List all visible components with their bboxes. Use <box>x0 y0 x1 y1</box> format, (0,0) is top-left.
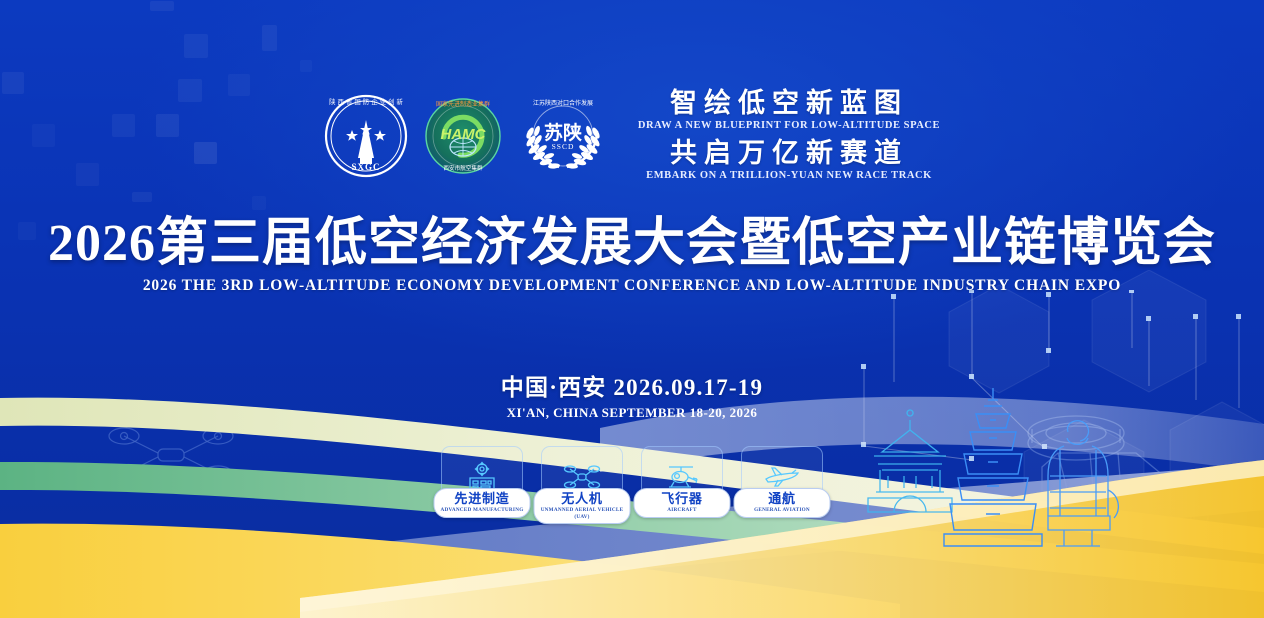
venue-date-en: XI'AN, CHINA SEPTEMBER 18-20, 2026 <box>0 405 1264 421</box>
badge-label-en: AIRCRAFT <box>637 507 728 514</box>
sxgc-logo: SXGC 陕 西 省 国 防 企 业 创 新 <box>324 94 408 178</box>
badge-label: 先进制造 ADVANCED MANUFACTURING <box>434 488 531 518</box>
badge-label-cn: 通航 <box>737 492 828 506</box>
airplane-icon <box>762 464 802 490</box>
badge-label-en: UNMANNED AERIAL VEHICLE (UAV) <box>537 507 628 520</box>
slogan-line1-cn: 智绘低空新蓝图 <box>638 88 940 118</box>
badge-label-en: ADVANCED MANUFACTURING <box>437 507 528 514</box>
venue-date-cn: 中国·西安 2026.09.17-19 <box>0 368 1264 402</box>
slogan-line1-en: DRAW A NEW BLUEPRINT FOR LOW-ALTITUDE SP… <box>638 118 940 134</box>
svg-text:HAMC: HAMC <box>440 126 486 143</box>
category-badges: 先进制造 ADVANCED MANUFACTURING <box>0 446 1264 508</box>
badge-label: 无人机 UNMANNED AERIAL VEHICLE (UAV) <box>534 488 631 524</box>
badge-label-cn: 飞行器 <box>637 492 728 506</box>
svg-text:SSCD: SSCD <box>552 142 575 151</box>
badge-label: 飞行器 AIRCRAFT <box>634 488 731 518</box>
svg-text:SXGC: SXGC <box>351 162 380 172</box>
svg-text:西安市航空集群: 西安市航空集群 <box>443 164 483 172</box>
svg-text:陕 西 省 国 防 企 业 创 新: 陕 西 省 国 防 企 业 创 新 <box>329 97 403 106</box>
badge-uav[interactable]: 无人机 UNMANNED AERIAL VEHICLE (UAV) <box>541 446 623 508</box>
svg-text:国家先进制造业集群: 国家先进制造业集群 <box>436 100 490 108</box>
conference-title-cn: 2026第三届低空经济发展大会暨低空产业链博览会 <box>0 216 1264 271</box>
badge-label-en: GENERAL AVIATION <box>737 507 828 514</box>
venue-date-block: 中国·西安 2026.09.17-19 XI'AN, CHINA SEPTEMB… <box>0 368 1264 421</box>
conference-title-en: 2026 THE 3RD LOW-ALTITUDE ECONOMY DEVELO… <box>0 277 1264 295</box>
sscd-logo: 苏陕 SSCD 江苏陕西对口合作发展 <box>518 91 608 181</box>
svg-text:江苏陕西对口合作发展: 江苏陕西对口合作发展 <box>533 99 593 107</box>
slogan-line2-en: EMBARK ON A TRILLION-YUAN NEW RACE TRACK <box>638 168 940 184</box>
svg-text:苏陕: 苏陕 <box>544 121 582 144</box>
title-block: 2026第三届低空经济发展大会暨低空产业链博览会 2026 THE 3RD LO… <box>0 216 1264 295</box>
badge-label-cn: 先进制造 <box>437 492 528 506</box>
badge-advanced-manufacturing[interactable]: 先进制造 ADVANCED MANUFACTURING <box>441 446 523 508</box>
conference-poster: SXGC 陕 西 省 国 防 企 业 创 新 <box>0 0 1264 618</box>
badge-aircraft[interactable]: 飞行器 AIRCRAFT <box>641 446 723 508</box>
badge-label-cn: 无人机 <box>537 492 628 506</box>
poster-header: SXGC 陕 西 省 国 防 企 业 创 新 <box>0 88 1264 184</box>
slogan-line2-cn: 共启万亿新赛道 <box>638 138 940 168</box>
slogan-block: 智绘低空新蓝图 DRAW A NEW BLUEPRINT FOR LOW-ALT… <box>638 88 940 184</box>
organizer-logos: SXGC 陕 西 省 国 防 企 业 创 新 <box>324 91 608 181</box>
badge-general-aviation[interactable]: 通航 GENERAL AVIATION <box>741 446 823 508</box>
badge-label: 通航 GENERAL AVIATION <box>734 488 831 518</box>
hamc-logo: HAMC 国家先进制造业集群 西安市航空集群 <box>424 97 502 175</box>
